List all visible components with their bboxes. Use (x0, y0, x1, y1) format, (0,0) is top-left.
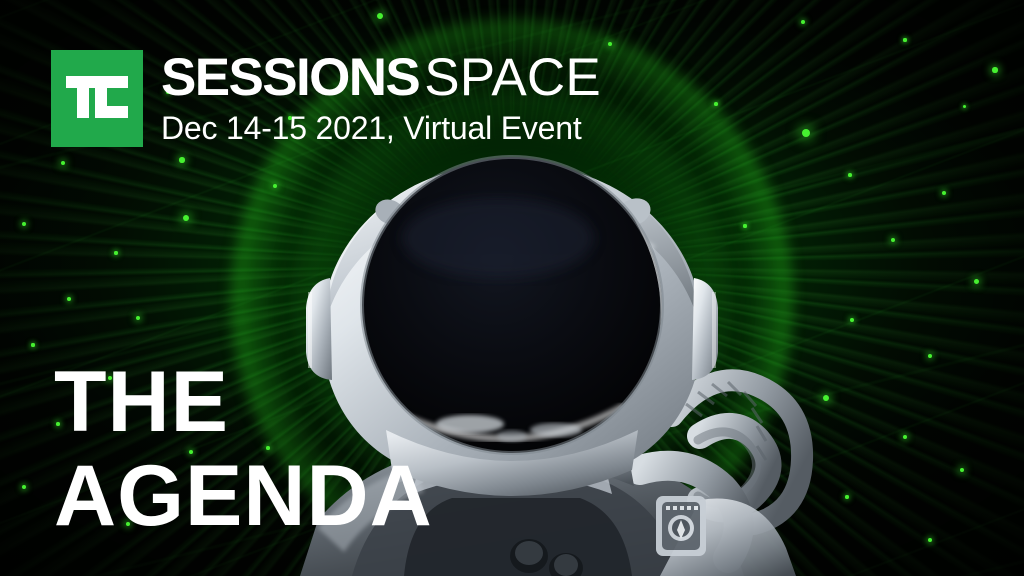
techcrunch-tc-logo-icon (66, 76, 128, 118)
promo-banner: SESSIONSSPACE Dec 14-15 2021, Virtual Ev… (0, 0, 1024, 576)
page-title: THE AGENDA (54, 360, 433, 539)
wordmark-sessions: SESSIONS (161, 48, 419, 107)
event-wordmark: SESSIONSSPACE (161, 52, 601, 104)
headline-line-1: THE (54, 360, 433, 445)
event-wordmark-block: SESSIONSSPACE Dec 14-15 2021, Virtual Ev… (161, 50, 601, 147)
event-brand-lockup: SESSIONSSPACE Dec 14-15 2021, Virtual Ev… (51, 50, 601, 147)
headline-line-2: AGENDA (54, 454, 433, 539)
techcrunch-logo-badge[interactable] (51, 50, 143, 147)
wordmark-space: SPACE (424, 48, 601, 107)
event-date-location: Dec 14-15 2021, Virtual Event (161, 110, 601, 147)
mission-patch (656, 496, 706, 556)
